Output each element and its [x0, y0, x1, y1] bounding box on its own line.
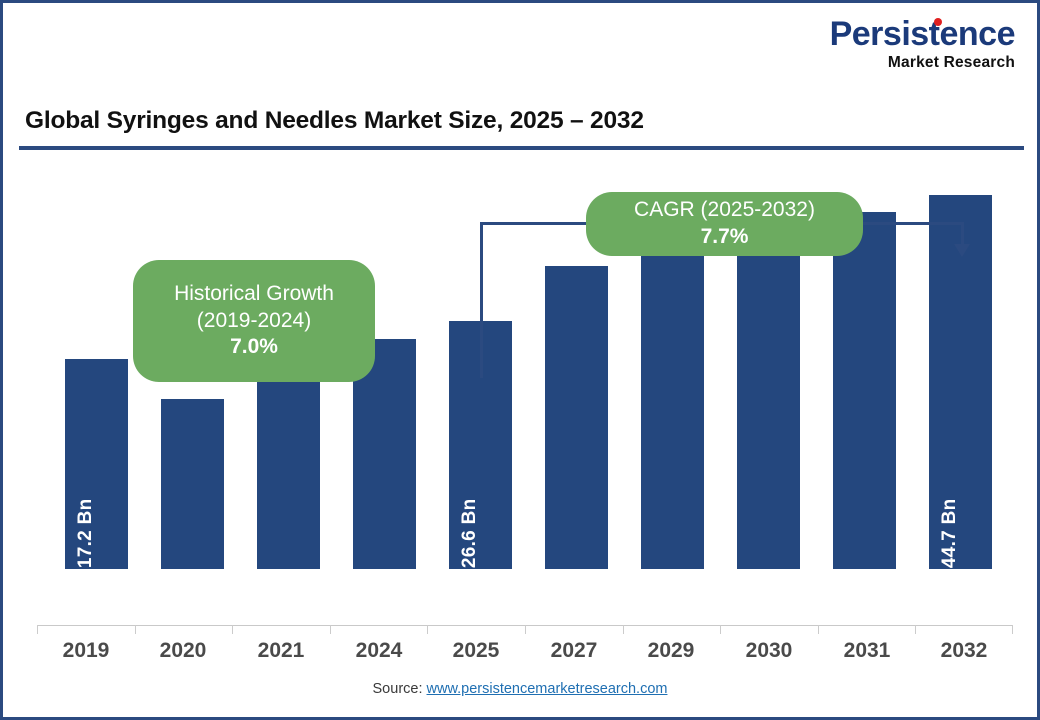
x-label-2024: 2024 [331, 639, 427, 663]
logo-dot-icon [934, 18, 942, 26]
historical-growth-line1: Historical Growth [174, 281, 334, 308]
x-tick-2030 [720, 625, 721, 634]
chart-page: Persistence Market Research Global Syrin… [0, 0, 1040, 720]
logo-tagline: Market Research [830, 55, 1015, 71]
company-logo: Persistence Market Research [830, 17, 1015, 71]
cagr-value: 7.7% [701, 224, 749, 251]
x-label-2021: 2021 [233, 639, 329, 663]
cagr-connector-vertical-right [961, 222, 964, 246]
source-prefix: Source: [373, 681, 427, 697]
bar-2021 [257, 374, 320, 569]
chart-plot-area: US$ 17.2 BnUS$ 26.6 BnUS$ 44.7 Bn 201920… [3, 153, 1037, 717]
historical-growth-callout: Historical Growth (2019-2024) 7.0% [133, 260, 375, 382]
x-tick-2027 [525, 625, 526, 634]
x-tick-2025 [427, 625, 428, 634]
title-underline-rule [19, 146, 1024, 150]
cagr-callout: CAGR (2025-2032) 7.7% [586, 192, 863, 256]
x-label-2020: 2020 [135, 639, 231, 663]
source-note: Source: www.persistencemarketresearch.co… [3, 681, 1037, 697]
page-title: Global Syringes and Needles Market Size,… [25, 107, 644, 135]
historical-growth-value: 7.0% [230, 334, 278, 361]
bar-2030 [737, 233, 800, 569]
logo-main-text: Persistence [830, 15, 1015, 53]
cagr-connector-vertical-left [480, 222, 483, 378]
cagr-line1: CAGR (2025-2032) [634, 197, 815, 224]
x-label-2019: 2019 [38, 639, 134, 663]
x-label-2025: 2025 [428, 639, 524, 663]
source-link[interactable]: www.persistencemarketresearch.com [427, 681, 668, 697]
x-label-2030: 2030 [721, 639, 817, 663]
x-label-2031: 2031 [819, 639, 915, 663]
x-tick-2019 [37, 625, 38, 634]
bar-2031 [833, 212, 896, 569]
bar-value-label-2025: US$ 26.6 Bn [459, 498, 481, 611]
bar-2020 [161, 399, 224, 569]
x-tick-2029 [623, 625, 624, 634]
x-label-2027: 2027 [526, 639, 622, 663]
bar-2019: US$ 17.2 Bn [65, 359, 128, 569]
logo-wordmark: Persistence [830, 17, 1015, 51]
bar-value-label-2032: US$ 44.7 Bn [939, 498, 961, 611]
bar-value-label-2019: US$ 17.2 Bn [75, 498, 97, 611]
x-tick-2024 [330, 625, 331, 634]
x-tick-2031 [818, 625, 819, 634]
cagr-arrow-icon [954, 244, 970, 257]
x-tick-2032 [915, 625, 916, 634]
bar-2027 [545, 266, 608, 569]
x-tick-2021 [232, 625, 233, 634]
historical-growth-line2: (2019-2024) [197, 308, 311, 335]
x-label-2032: 2032 [916, 639, 1012, 663]
x-tick-2020 [135, 625, 136, 634]
bar-2029 [641, 248, 704, 569]
cagr-connector-horizontal-left [480, 222, 600, 225]
x-label-2029: 2029 [623, 639, 719, 663]
cagr-connector-horizontal-right [851, 222, 964, 225]
x-tick-end [1012, 625, 1013, 634]
